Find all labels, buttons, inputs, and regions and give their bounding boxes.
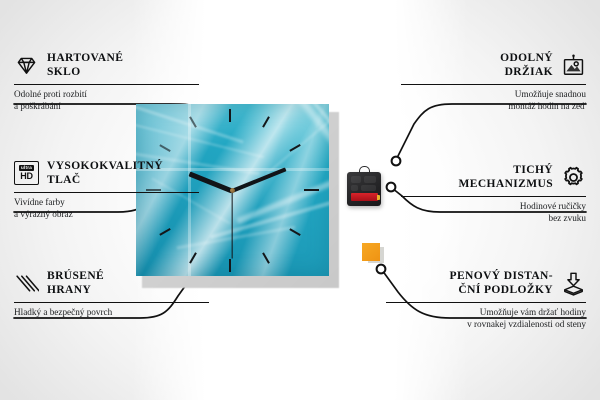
feature-foam-spacers: PENOVÝ DISTAN- ČNÍ PODLOŽKY Umožňuje vám… xyxy=(386,270,586,331)
battery xyxy=(351,193,378,201)
feature-desc-line1: Hladký a bezpečný povrch xyxy=(14,307,112,317)
foam-spacer-icon xyxy=(561,271,586,296)
feature-polished-edges: BRÚSENÉ HRANY Hladký a bezpečný povrch xyxy=(14,270,209,319)
feature-desc-line2: a poškrábání xyxy=(14,101,61,111)
diamond-icon xyxy=(14,53,39,78)
ultra-hd-icon: ultra HD xyxy=(14,161,39,186)
connector-dot-right-bottom xyxy=(377,265,386,274)
picture-frame-hanger-icon xyxy=(561,53,586,78)
feature-desc-line2: bez zvuku xyxy=(549,213,587,223)
feature-title-line1: TICHÝ xyxy=(513,164,553,176)
ultra-hd-main-label: HD xyxy=(20,172,33,181)
polished-edges-icon xyxy=(14,271,39,296)
connector-dot-right-middle xyxy=(387,183,396,192)
feature-title-line2: DRŽIAK xyxy=(505,66,553,78)
foam-pad xyxy=(362,243,380,261)
feature-title-line1: VYSOKOKVALITNÝ xyxy=(47,160,163,172)
feature-desc-line1: Umožňuje snadnou xyxy=(515,89,586,99)
divider xyxy=(386,302,586,303)
feature-desc-line1: Vivídne farby xyxy=(14,197,65,207)
feature-tempered-glass: HARTOVANÉ SKLO Odolné proti rozbití a po… xyxy=(14,52,199,113)
feature-desc-line1: Hodinové ručičky xyxy=(520,201,586,211)
divider xyxy=(401,84,586,85)
feature-title-line1: HARTOVANÉ xyxy=(47,52,123,64)
feature-title-line1: BRÚSENÉ xyxy=(47,270,104,282)
feature-title-line1: ODOLNÝ xyxy=(500,52,553,64)
clock-center-pin xyxy=(230,188,235,193)
feature-title-line1: PENOVÝ DISTAN- xyxy=(450,270,553,282)
feature-title-line2: HRANY xyxy=(47,284,91,296)
divider xyxy=(401,196,586,197)
feature-title-line2: ČNÍ PODLOŽKY xyxy=(458,284,553,296)
feature-silent-mechanism: TICHÝ MECHANIZMUS Hodinové ručičky bez z… xyxy=(401,164,586,225)
feature-title-line2: SKLO xyxy=(47,66,81,78)
divider xyxy=(14,192,199,193)
feature-desc-line2: a výrazný obraz xyxy=(14,209,73,219)
feature-title-line2: MECHANIZMUS xyxy=(459,178,554,190)
mechanism-hanger xyxy=(359,166,370,173)
clock-mechanism xyxy=(347,172,381,206)
second-hand xyxy=(231,191,232,259)
feature-high-quality-print: ultra HD VYSOKOKVALITNÝ TLAČ Vivídne far… xyxy=(14,160,199,221)
feature-durable-hanger: ODOLNÝ DRŽIAK Umožňuje snadnou montáž ho… xyxy=(401,52,586,113)
feature-desc-line1: Umožňuje vám držať hodiny xyxy=(480,307,586,317)
divider xyxy=(14,84,199,85)
infographic-canvas: HARTOVANÉ SKLO Odolné proti rozbití a po… xyxy=(0,0,600,400)
connector-dot-right-top xyxy=(392,157,401,166)
feature-desc-line1: Odolné proti rozbití xyxy=(14,89,87,99)
feature-desc-line2: v rovnakej vzdialenosti od steny xyxy=(467,319,586,329)
divider xyxy=(14,302,209,303)
feature-title-line2: TLAČ xyxy=(47,174,81,186)
gear-icon xyxy=(561,165,586,190)
feature-desc-line2: montáž hodin na zeď xyxy=(508,101,586,111)
